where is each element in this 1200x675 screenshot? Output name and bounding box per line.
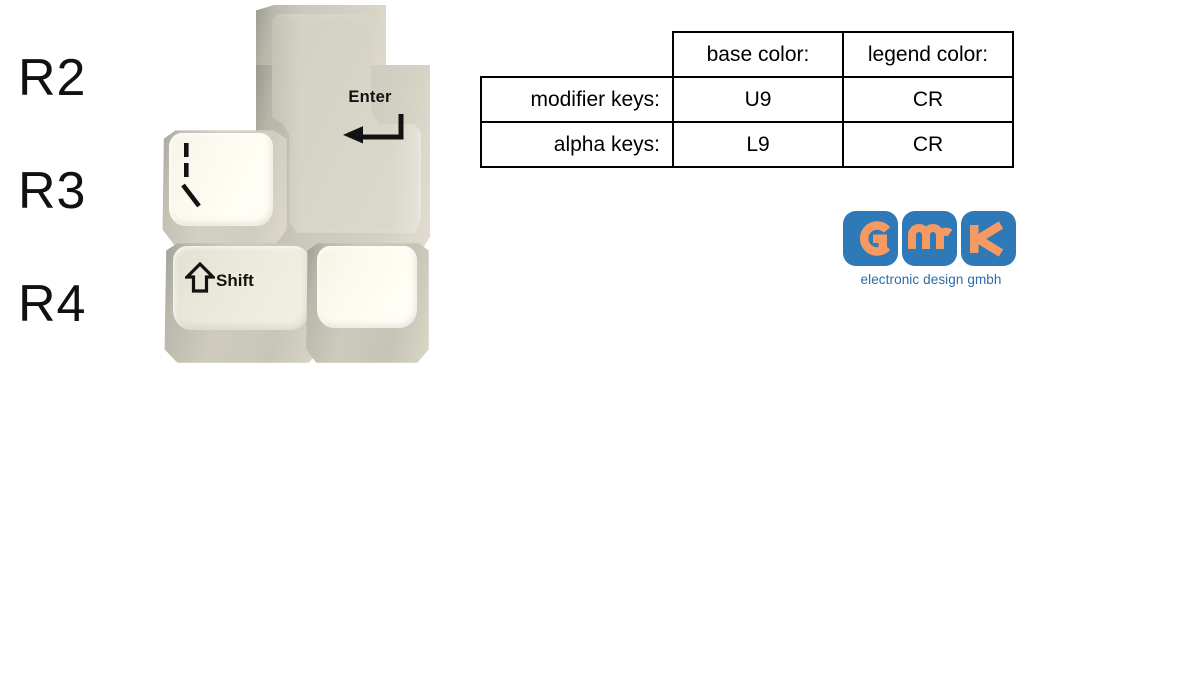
table-cell-alpha-legend-color: CR <box>843 122 1013 167</box>
table-row: modifier keys: U9 CR <box>481 77 1013 122</box>
broken-bar-backslash-icon <box>180 142 220 213</box>
color-spec-table: base color: legend color: modifier keys:… <box>480 31 1014 168</box>
table-row: alpha keys: L9 CR <box>481 122 1013 167</box>
keycap-enter-legend-text: Enter <box>324 89 416 106</box>
keycap-shift-legend-text: Shift <box>216 272 254 289</box>
keycap-blank <box>305 242 430 364</box>
table-row-label-modifier-keys: modifier keys: <box>481 77 673 122</box>
keycap-render-group: Enter <box>150 0 450 380</box>
gmk-logo-letter-k-icon <box>961 211 1016 266</box>
keycap-shift-legend: Shift <box>185 262 254 298</box>
table-cell-alpha-base-color: L9 <box>673 122 843 167</box>
keycap-pipe-backslash <box>160 128 288 246</box>
table-corner-cell <box>481 32 673 77</box>
table-header-legend-color: legend color: <box>843 32 1013 77</box>
gmk-logo-tagline: electronic design gmbh <box>843 272 1019 287</box>
table-row-label-alpha-keys: alpha keys: <box>481 122 673 167</box>
row-label-r4: R4 <box>18 278 86 330</box>
row-label-r2: R2 <box>18 52 86 104</box>
gmk-logo: electronic design gmbh <box>843 211 1019 287</box>
shift-up-arrow-icon <box>185 262 215 298</box>
gmk-logo-marks <box>843 211 1019 266</box>
row-label-r3: R3 <box>18 165 86 217</box>
gmk-logo-letter-g-icon <box>843 211 898 266</box>
keycap-blank-top-surface <box>317 246 417 328</box>
table-cell-modifier-base-color: U9 <box>673 77 843 122</box>
return-arrow-icon <box>332 113 416 152</box>
keycap-shift: Shift <box>163 242 323 364</box>
keycap-enter-legend: Enter <box>324 89 416 152</box>
table-header-row: base color: legend color: <box>481 32 1013 77</box>
gmk-logo-letter-m-icon <box>902 211 957 266</box>
table-header-base-color: base color: <box>673 32 843 77</box>
table-cell-modifier-legend-color: CR <box>843 77 1013 122</box>
